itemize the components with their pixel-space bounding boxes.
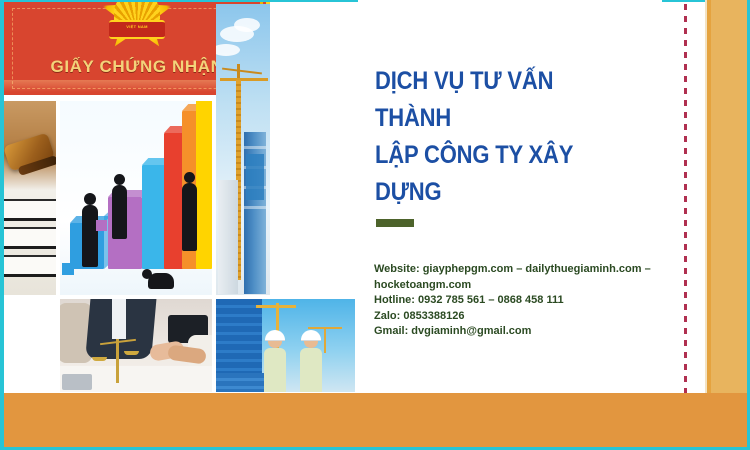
right-band-stripe [707, 0, 711, 397]
decorative-cube-2 [96, 220, 107, 231]
handshake-image [60, 299, 212, 392]
emblem-ribbon-text: VIỆT NAM [109, 22, 165, 30]
right-band-highlight [705, 0, 707, 397]
national-emblem-icon: VIỆT NAM [100, 2, 174, 52]
right-orange-band [711, 0, 747, 397]
dashed-divider-rule [684, 4, 687, 394]
contact-info: Website: giayphepgm.com – dailythuegiami… [374, 262, 652, 340]
accent-divider [376, 219, 414, 227]
chart-bar-6 [196, 101, 212, 269]
slide-title: DỊCH VỤ TƯ VẤN THÀNH LẬP CÔNG TY XÂY DỰN… [375, 63, 621, 211]
person-silhouette-3 [182, 183, 197, 251]
text-panel: DỊCH VỤ TƯ VẤN THÀNH LẬP CÔNG TY XÂY DỰN… [358, 0, 662, 392]
crane-image [216, 4, 270, 295]
engineers-image [216, 299, 355, 392]
bottom-orange-bar [4, 393, 747, 447]
person-silhouette-4 [148, 273, 174, 289]
slide-canvas: VIỆT NAM GIẤY CHỨNG NHẬN [0, 0, 750, 450]
gavel-image [4, 101, 56, 295]
image-collage: VIỆT NAM GIẤY CHỨNG NHẬN [4, 2, 355, 392]
person-silhouette-1 [82, 205, 98, 267]
decorative-cube-1 [62, 263, 74, 275]
bar-chart-image [60, 101, 212, 295]
person-silhouette-2 [112, 185, 127, 239]
